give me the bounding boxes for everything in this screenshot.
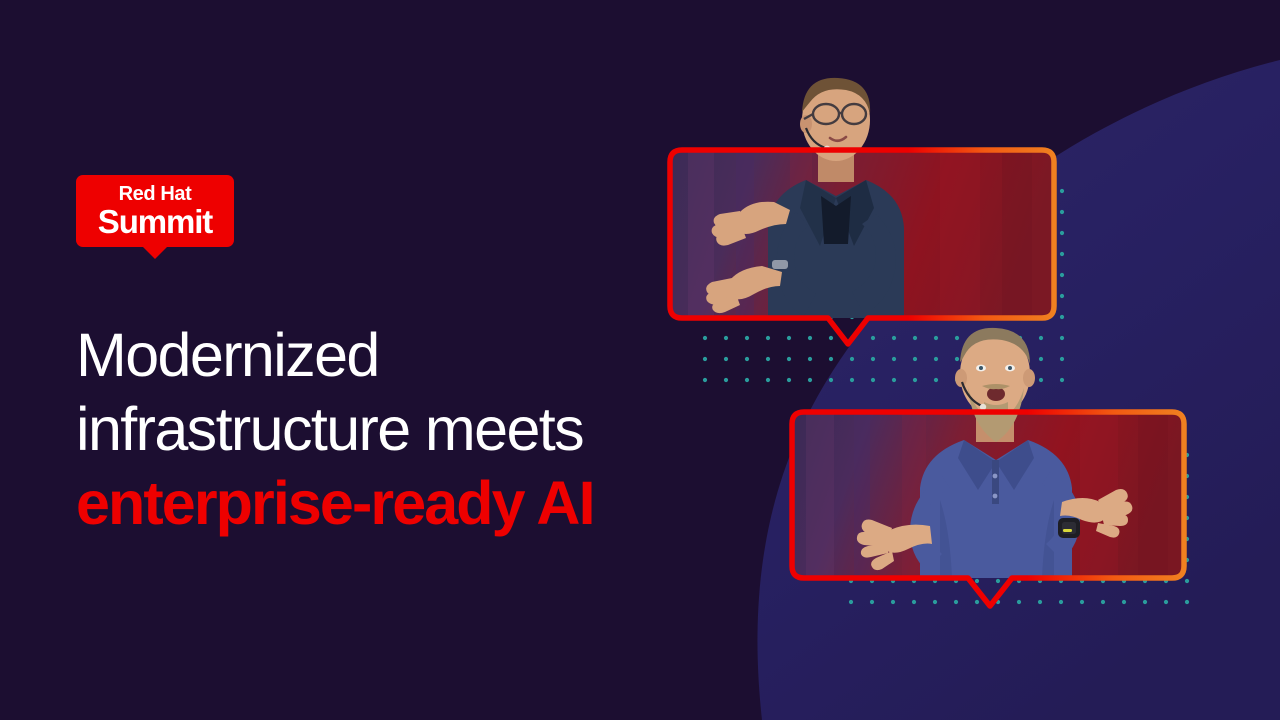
logo-tail-icon — [142, 246, 168, 259]
logo-line-red-hat: Red Hat — [119, 184, 192, 204]
headline: Modernized infrastructure meets enterpri… — [76, 318, 716, 540]
headline-line-2: infrastructure meets — [76, 392, 716, 466]
headline-line-3: enterprise-ready AI — [76, 466, 716, 540]
logo-line-summit: Summit — [98, 205, 212, 240]
speaker-card-bottom — [762, 330, 1192, 630]
red-hat-summit-logo[interactable]: Red Hat Summit — [76, 175, 234, 247]
promo-graphic: Red Hat Summit Modernized infrastructure… — [0, 0, 1280, 720]
headline-line-1: Modernized — [76, 318, 716, 392]
